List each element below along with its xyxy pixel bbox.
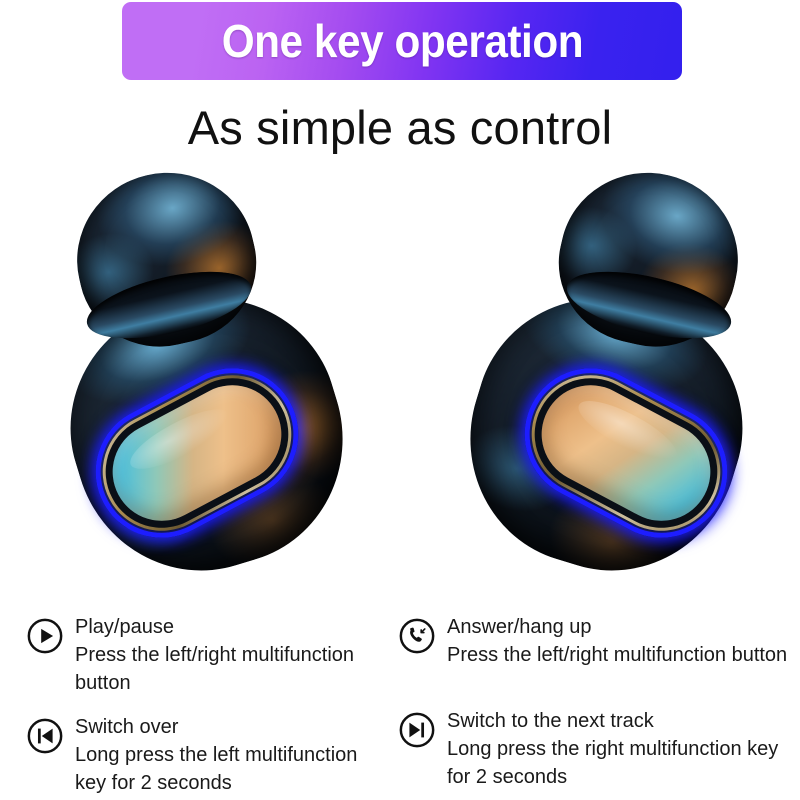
feature-description: Press the left/right multifunction butto… xyxy=(447,641,787,669)
feature-item-play-pause: Play/pause Press the left/right multifun… xyxy=(26,614,386,697)
feature-item-previous-track: Switch over Long press the left multifun… xyxy=(26,714,386,797)
feature-description: Long press the right multifunction key f… xyxy=(447,735,793,791)
feature-title: Switch to the next track xyxy=(447,708,793,735)
feature-item-next-track: Switch to the next track Long press the … xyxy=(398,708,793,791)
left-earbud xyxy=(55,165,395,595)
subtitle-text: As simple as control xyxy=(0,100,800,155)
feature-list: Play/pause Press the left/right multifun… xyxy=(0,600,800,800)
feature-description: Press the left/right multifunction butto… xyxy=(75,641,386,697)
headline-banner: One key operation xyxy=(122,2,682,80)
feature-title: Answer/hang up xyxy=(447,614,787,641)
next-track-icon xyxy=(398,711,436,749)
previous-track-icon xyxy=(26,717,64,755)
feature-item-answer-call: Answer/hang up Press the left/right mult… xyxy=(398,614,793,669)
answer-call-icon xyxy=(398,617,436,655)
headline-text: One key operation xyxy=(221,14,582,68)
right-earbud xyxy=(420,165,760,595)
product-image-stage xyxy=(0,160,800,600)
feature-title: Switch over xyxy=(75,714,386,741)
play-pause-icon xyxy=(26,617,64,655)
feature-title: Play/pause xyxy=(75,614,386,641)
feature-description: Long press the left multifunction key fo… xyxy=(75,741,386,797)
